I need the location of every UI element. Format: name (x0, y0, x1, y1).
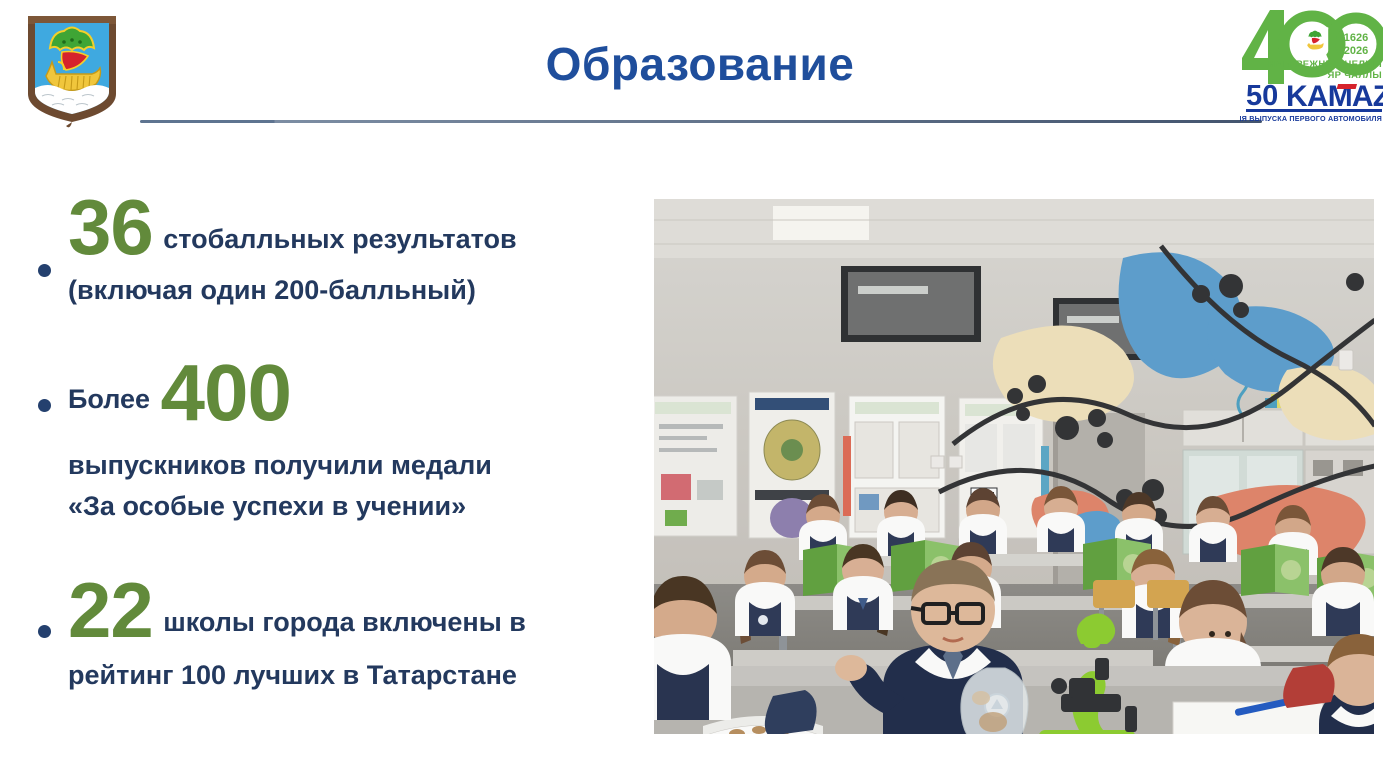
classroom-photo (653, 198, 1375, 735)
slide-root: Образование 1626 2026 (0, 0, 1391, 773)
stat-text-22: школы города включены в (163, 607, 526, 637)
bullet-marker-icon (38, 399, 51, 412)
anniversary-year-to: 2026 (1344, 45, 1368, 57)
statistics-list: 36 стобалльных результатов (включая один… (28, 190, 628, 696)
anniversary-logo-icon: 1626 2026 НАБЕРЕЖНЫЕ ЧЕЛНЫ ЯР ЧАЛЛЫ 50 K… (1240, 4, 1383, 122)
stat-subtext-400-line2: «За особые успехи в учении» (68, 486, 628, 527)
stat-text-block-400: выпускников получили медали «За особые у… (28, 445, 628, 527)
classroom-photo-illustration (653, 198, 1375, 735)
stat-subtext-22: рейтинг 100 лучших в Татарстане (28, 655, 628, 696)
kamaz-tagline: СО ДНЯ ВЫПУСКА ПЕРВОГО АВТОМОБИЛЯ (1240, 114, 1382, 122)
slide-header: Образование 1626 2026 (0, 0, 1391, 140)
anniversary-year-from: 1626 (1344, 32, 1368, 44)
coat-of-arms-icon (22, 12, 122, 130)
bullet-marker-icon (38, 625, 51, 638)
stat-subtext-36: (включая один 200-балльный) (28, 270, 628, 311)
kamaz-anniversary-number: 50 (1246, 80, 1278, 112)
anniversary-city-ru: НАБЕРЕЖНЫЕ ЧЕЛНЫ (1268, 59, 1382, 70)
list-item: 22 школы города включены в (28, 573, 628, 647)
list-item: 36 стобалльных результатов (28, 190, 628, 264)
stat-text-36: стобалльных результатов (163, 224, 516, 254)
page-title: Образование (300, 40, 1100, 88)
stat-number-400: 400 (161, 348, 291, 437)
stat-number-22: 22 (68, 566, 153, 654)
stat-subtext-400-line1: выпускников получили медали (68, 445, 628, 486)
bullet-marker-icon (38, 264, 51, 277)
stat-number-36: 36 (68, 183, 153, 271)
header-divider (140, 120, 1262, 123)
stat-lead-400: Более (68, 384, 150, 414)
kamaz-brand-wordmark: KAMAZ (1286, 80, 1383, 113)
list-item: Более 400 (28, 355, 628, 431)
